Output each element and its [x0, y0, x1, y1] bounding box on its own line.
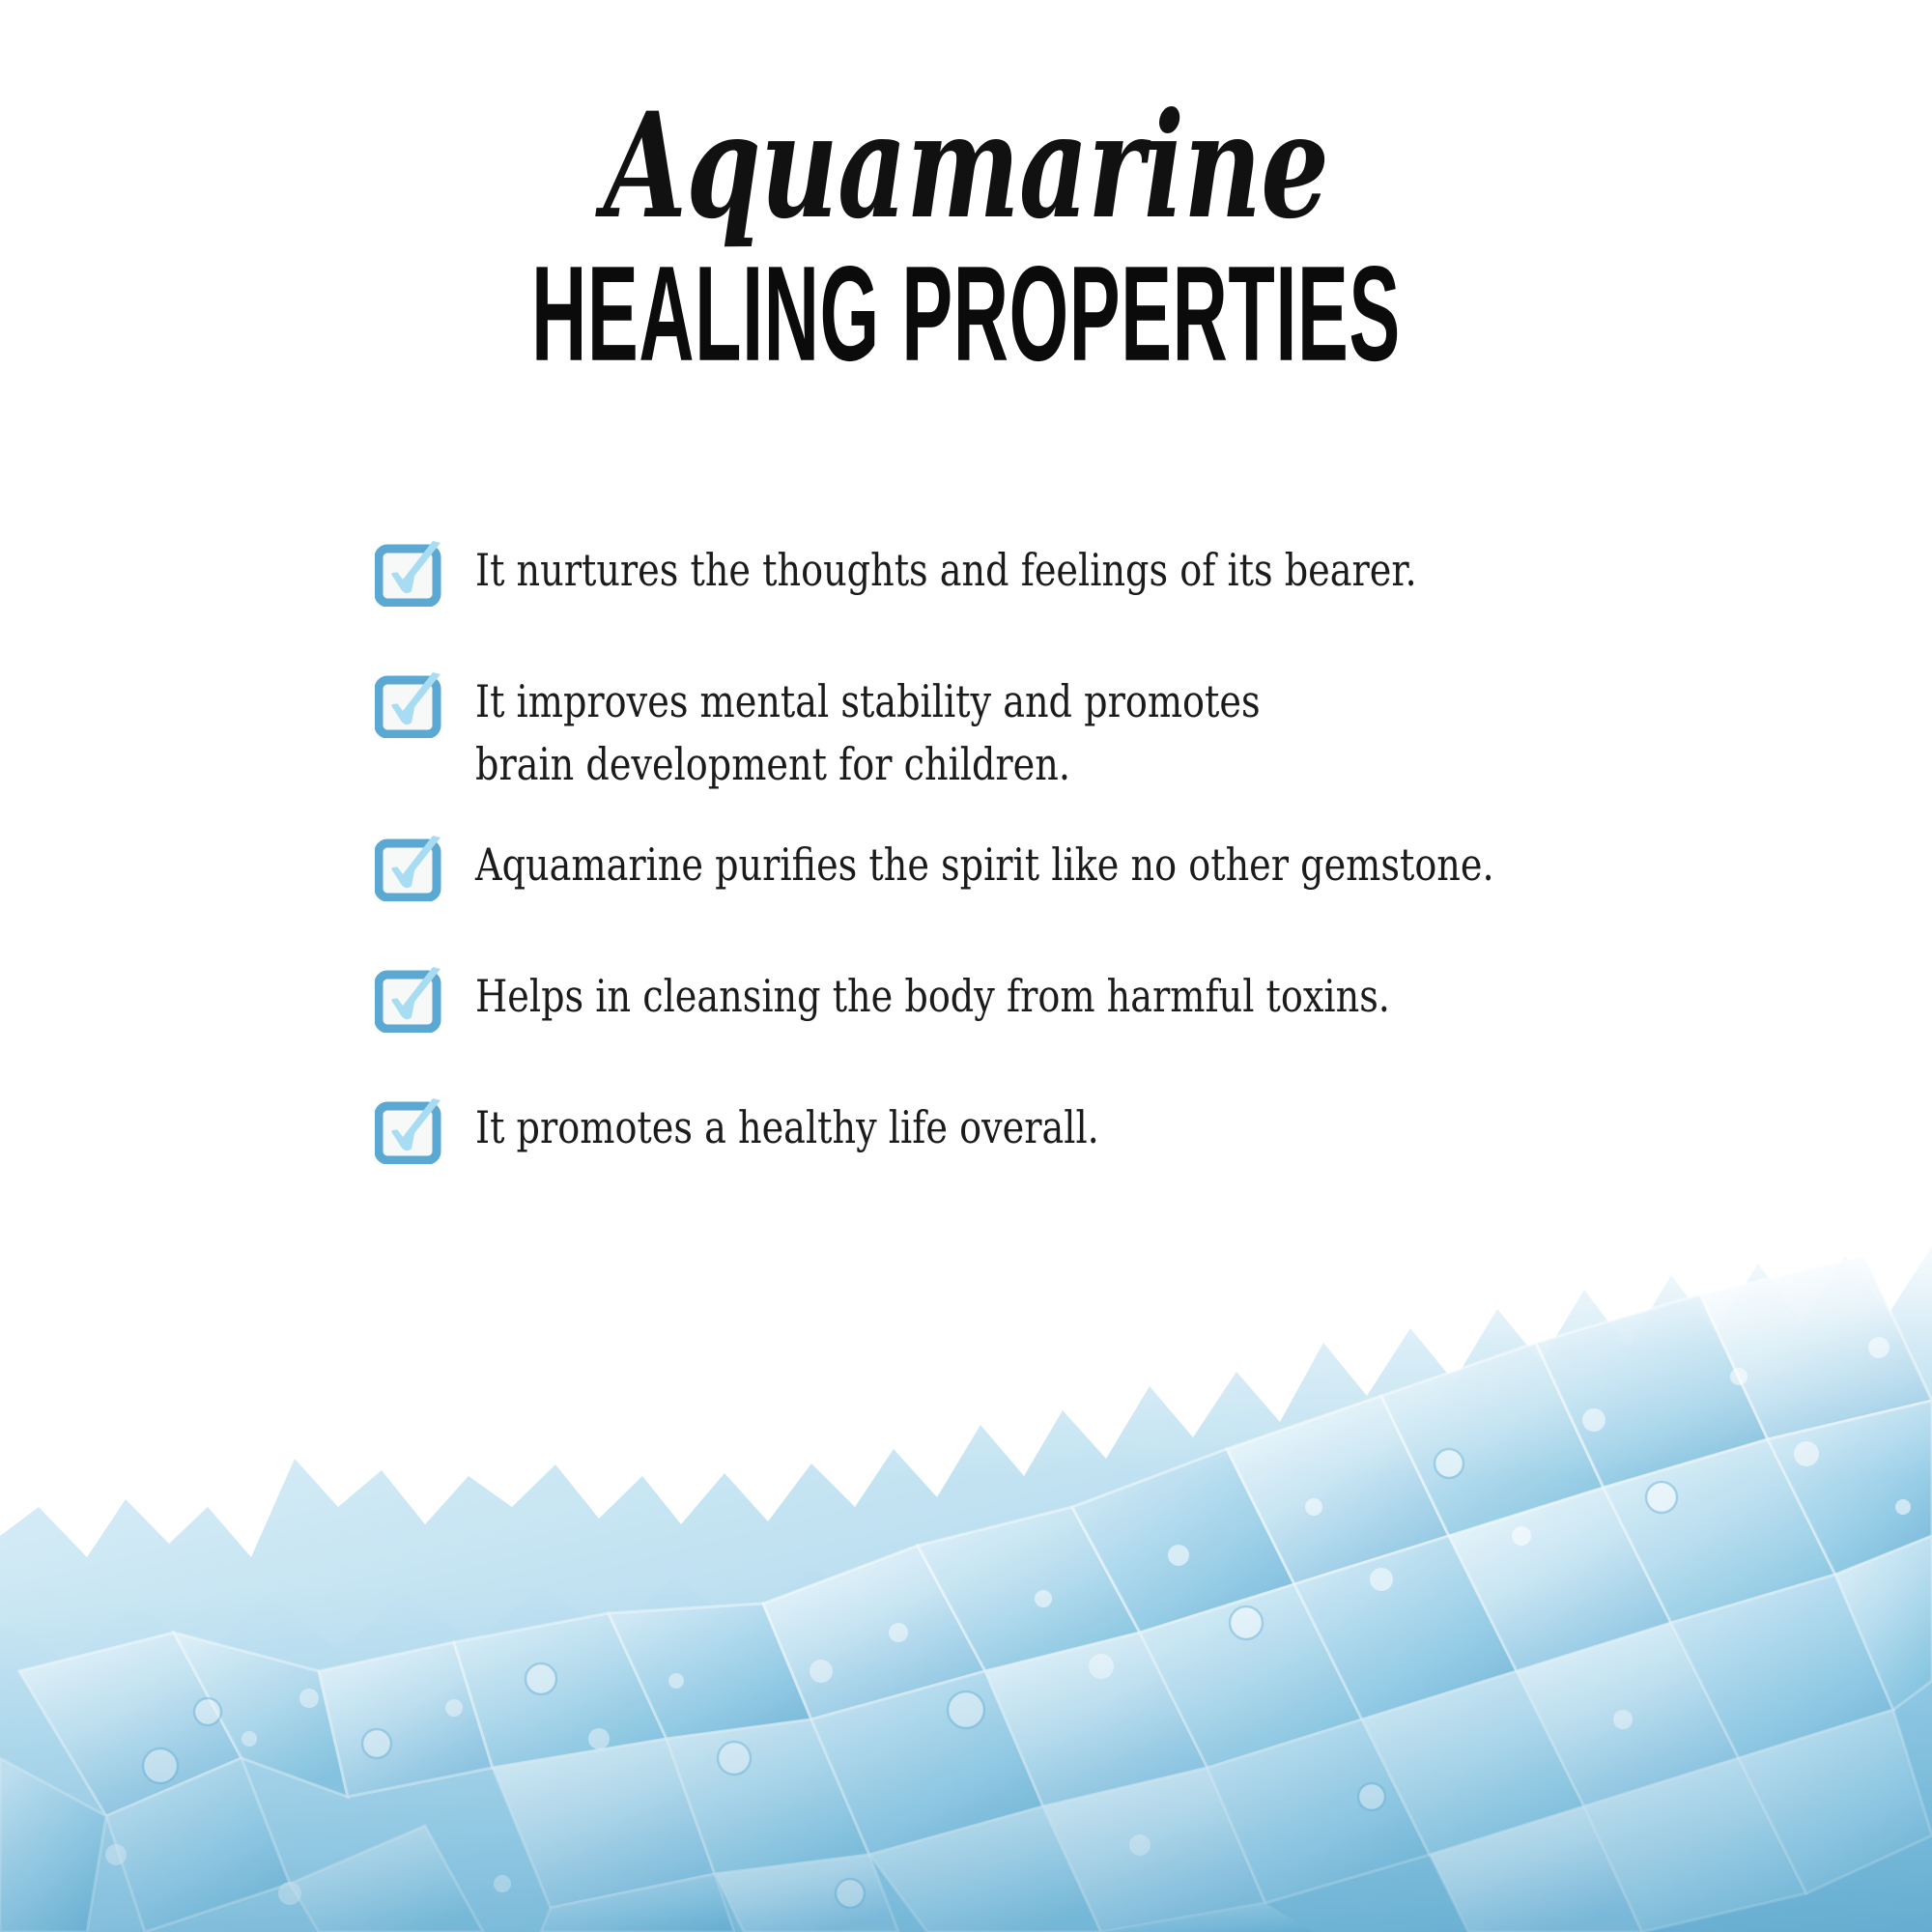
- header: Aquamarine HEALING PROPERTIES: [0, 0, 1932, 378]
- page-subtitle: HEALING PROPERTIES: [386, 246, 1546, 382]
- checkbox-checked-icon: [375, 836, 446, 901]
- healing-properties-list: It nurtures the thoughts and feelings of…: [375, 537, 1727, 1164]
- checkbox-checked-icon: [375, 541, 446, 607]
- page-title: Aquamarine: [251, 93, 1681, 241]
- list-item: Aquamarine purifies the spirit like no o…: [375, 832, 1727, 901]
- list-item-label: It promotes a healthy life overall.: [475, 1094, 1099, 1159]
- list-item: It improves mental stability and promote…: [375, 668, 1727, 797]
- list-item-label: Aquamarine purifies the spirit like no o…: [475, 832, 1494, 896]
- checkbox-checked-icon: [375, 1098, 446, 1164]
- list-item-label: It nurtures the thoughts and feelings of…: [475, 537, 1417, 602]
- checkbox-checked-icon: [375, 672, 446, 738]
- checkbox-checked-icon: [375, 967, 446, 1033]
- list-item: It nurtures the thoughts and feelings of…: [375, 537, 1727, 607]
- list-item: Helps in cleansing the body from harmful…: [375, 963, 1727, 1033]
- list-item: It promotes a healthy life overall.: [375, 1094, 1727, 1164]
- list-item-label: It improves mental stability and promote…: [475, 668, 1261, 797]
- ice-cubes-photo: [0, 1217, 1932, 1932]
- poster-canvas: Aquamarine HEALING PROPERTIES It nurture…: [0, 0, 1932, 1932]
- list-item-label: Helps in cleansing the body from harmful…: [475, 963, 1390, 1028]
